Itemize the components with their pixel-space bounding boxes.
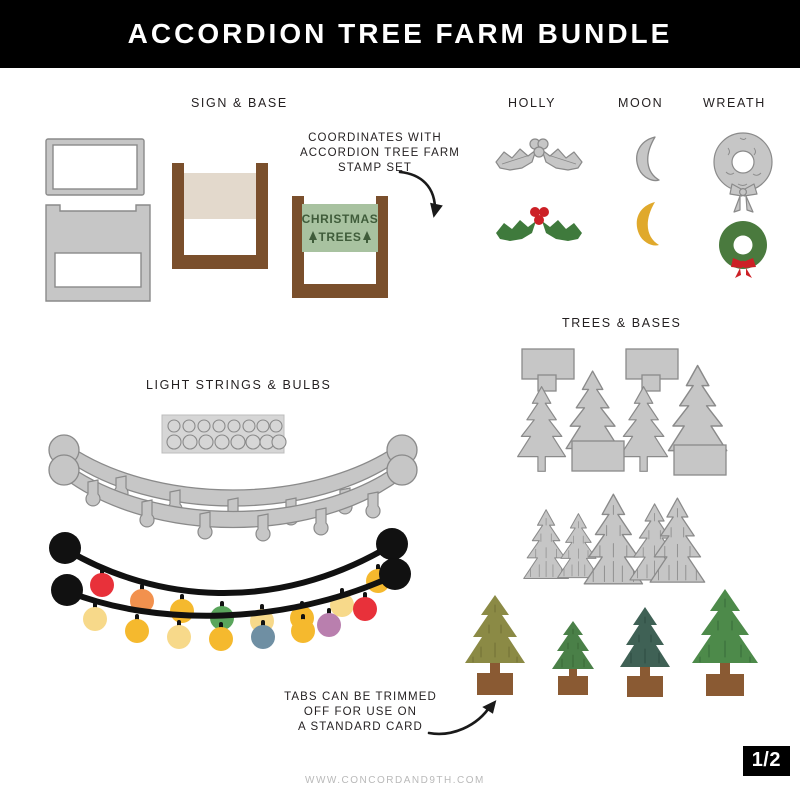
sign-base-brown-cream <box>168 163 272 273</box>
arrow-coordinates-icon <box>390 168 460 230</box>
header-bar: ACCORDION TREE FARM BUNDLE <box>0 0 800 68</box>
string-end-cap-right-top <box>376 528 408 560</box>
label-moon: MOON <box>618 96 663 110</box>
label-holly: HOLLY <box>508 96 556 110</box>
label-light-strings: LIGHT STRINGS & BULBS <box>146 378 332 392</box>
finished-trees-group <box>455 585 775 710</box>
page-number-badge: 1/2 <box>743 746 790 776</box>
wreath-die-grey <box>706 130 780 222</box>
string-end-cap-left-bottom <box>51 574 83 606</box>
note-tabs-line1: TABS CAN BE TRIMMED <box>283 690 438 705</box>
note-tabs: TABS CAN BE TRIMMED OFF FOR USE ON A STA… <box>283 690 438 735</box>
holly-die-grey <box>492 134 586 184</box>
label-wreath: WREATH <box>703 96 766 110</box>
holly-finished <box>492 203 586 249</box>
wreath-finished <box>706 218 780 280</box>
label-sign-base: SIGN & BASE <box>191 96 288 110</box>
sign-christmas-trees: CHRISTMAS TREES <box>288 196 392 302</box>
olive-tree <box>465 595 525 695</box>
note-coordinates-line2: ACCORDION TREE FARM <box>300 146 450 161</box>
trees-bases-die-group <box>512 345 742 480</box>
colored-light-strings <box>45 530 420 640</box>
light-string-dies <box>42 420 424 530</box>
product-sheet: ACCORDION TREE FARM BUNDLE SIGN & BASE H… <box>0 0 800 800</box>
label-trees-bases: TREES & BASES <box>562 316 681 330</box>
moon-finished <box>625 200 669 250</box>
footer-url[interactable]: WWW.CONCORDAND9TH.COM <box>305 775 485 786</box>
page-title: ACCORDION TREE FARM BUNDLE <box>128 18 673 50</box>
sign-line1: CHRISTMAS <box>302 212 379 226</box>
string-end-cap-right-bottom <box>379 558 411 590</box>
note-tabs-line2: OFF FOR USE ON <box>283 705 438 720</box>
small-green-tree <box>552 621 594 695</box>
teal-tree <box>620 607 670 697</box>
string-end-cap-left-top <box>49 532 81 564</box>
large-green-tree <box>692 589 758 696</box>
textured-tree-dies <box>520 490 700 595</box>
arrow-tabs-icon <box>425 695 505 740</box>
sign-line2: TREES <box>318 230 361 244</box>
sign-base-die-grey <box>40 135 160 305</box>
note-coordinates-line1: COORDINATES WITH <box>300 131 450 146</box>
moon-die-grey <box>625 133 669 185</box>
note-tabs-line3: A STANDARD CARD <box>283 720 438 735</box>
